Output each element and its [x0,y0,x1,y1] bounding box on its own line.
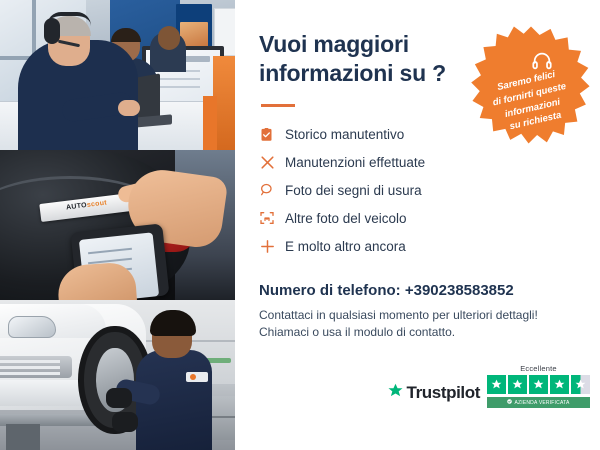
phone-line: Numero di telefono: +390238583852 [259,282,578,299]
phone-number[interactable]: +390238583852 [405,282,514,299]
list-item: Altre foto del veicolo [259,205,578,232]
wrench-cross-icon [259,154,285,171]
trustpilot-rating-label: Eccellente [487,364,590,373]
headlight-decor [8,316,56,338]
trustpilot-score-block: Eccellente [487,364,590,408]
star-filled-icon [529,375,548,394]
contact-description: Contattaci in qualsiasi momento per ulte… [259,307,578,342]
headline-line-2: informazioni su ? [259,60,446,86]
advertisement-banner: AUTOscout [0,0,600,450]
mechanic-wheel-photo [0,300,235,450]
page-title: Vuoi maggiori informazioni su ? [259,30,474,89]
star-filled-icon [487,375,506,394]
trustpilot-wordmark: Trustpilot [407,383,480,403]
trustpilot-stars [487,375,590,394]
car-lift-post-decor [6,424,40,450]
contact-block: Numero di telefono: +390238583852 Contat… [259,282,578,342]
call-center-photo [0,0,235,150]
contact-line-1: Contattaci in qualsiasi momento per ulte… [259,307,578,324]
list-item: Foto dei segni di usura [259,177,578,204]
trustpilot-logo[interactable]: Trustpilot [387,382,480,408]
list-item-label: Altre foto del veicolo [285,211,407,226]
contact-line-2: Chiamaci o usa il modulo di contatto. [259,324,578,341]
person-hand-decor [118,100,140,116]
star-filled-icon [550,375,569,394]
list-item-label: Foto dei segni di usura [285,183,422,198]
star-half-icon [571,375,590,394]
headline-line-1: Vuoi maggiori [259,31,409,57]
headset-band-decor [47,12,91,26]
list-item-label: Storico manutentivo [285,127,404,142]
trustpilot-star-icon [387,382,404,404]
list-item: Manutenzioni effettuate [259,149,578,176]
phone-label: Numero di telefono: [259,282,401,299]
vehicle-scan-icon [259,210,285,226]
mechanic-glove-decor [112,412,138,432]
callout-badge: Saremo felici di fornirti queste informa… [470,24,592,146]
trustpilot-rating[interactable]: Trustpilot Eccellente [387,364,590,408]
clipboard-check-icon [259,127,285,142]
title-divider [261,104,295,107]
list-item: E molto altro ancora [259,233,578,260]
orange-object-decor [203,96,217,150]
verified-label: AZIENDA VERIFICATA [514,400,569,406]
list-item-label: E molto altro ancora [285,239,406,254]
person-head-decor [158,26,180,50]
mechanic-glove-decor [106,388,132,408]
photo-column: AUTOscout [0,0,235,450]
magnifier-icon [259,182,285,198]
vehicle-inspection-photo: AUTOscout [0,150,235,300]
uniform-logo-dot-decor [190,374,196,380]
star-filled-icon [508,375,527,394]
status-badge: AZIENDA VERIFICATA [487,397,590,408]
check-circle-icon [507,399,512,406]
content-panel: Vuoi maggiori informazioni su ? Storico … [235,0,600,450]
plus-icon [259,238,285,255]
list-item-label: Manutenzioni effettuate [285,155,425,170]
grille-decor [0,356,72,378]
